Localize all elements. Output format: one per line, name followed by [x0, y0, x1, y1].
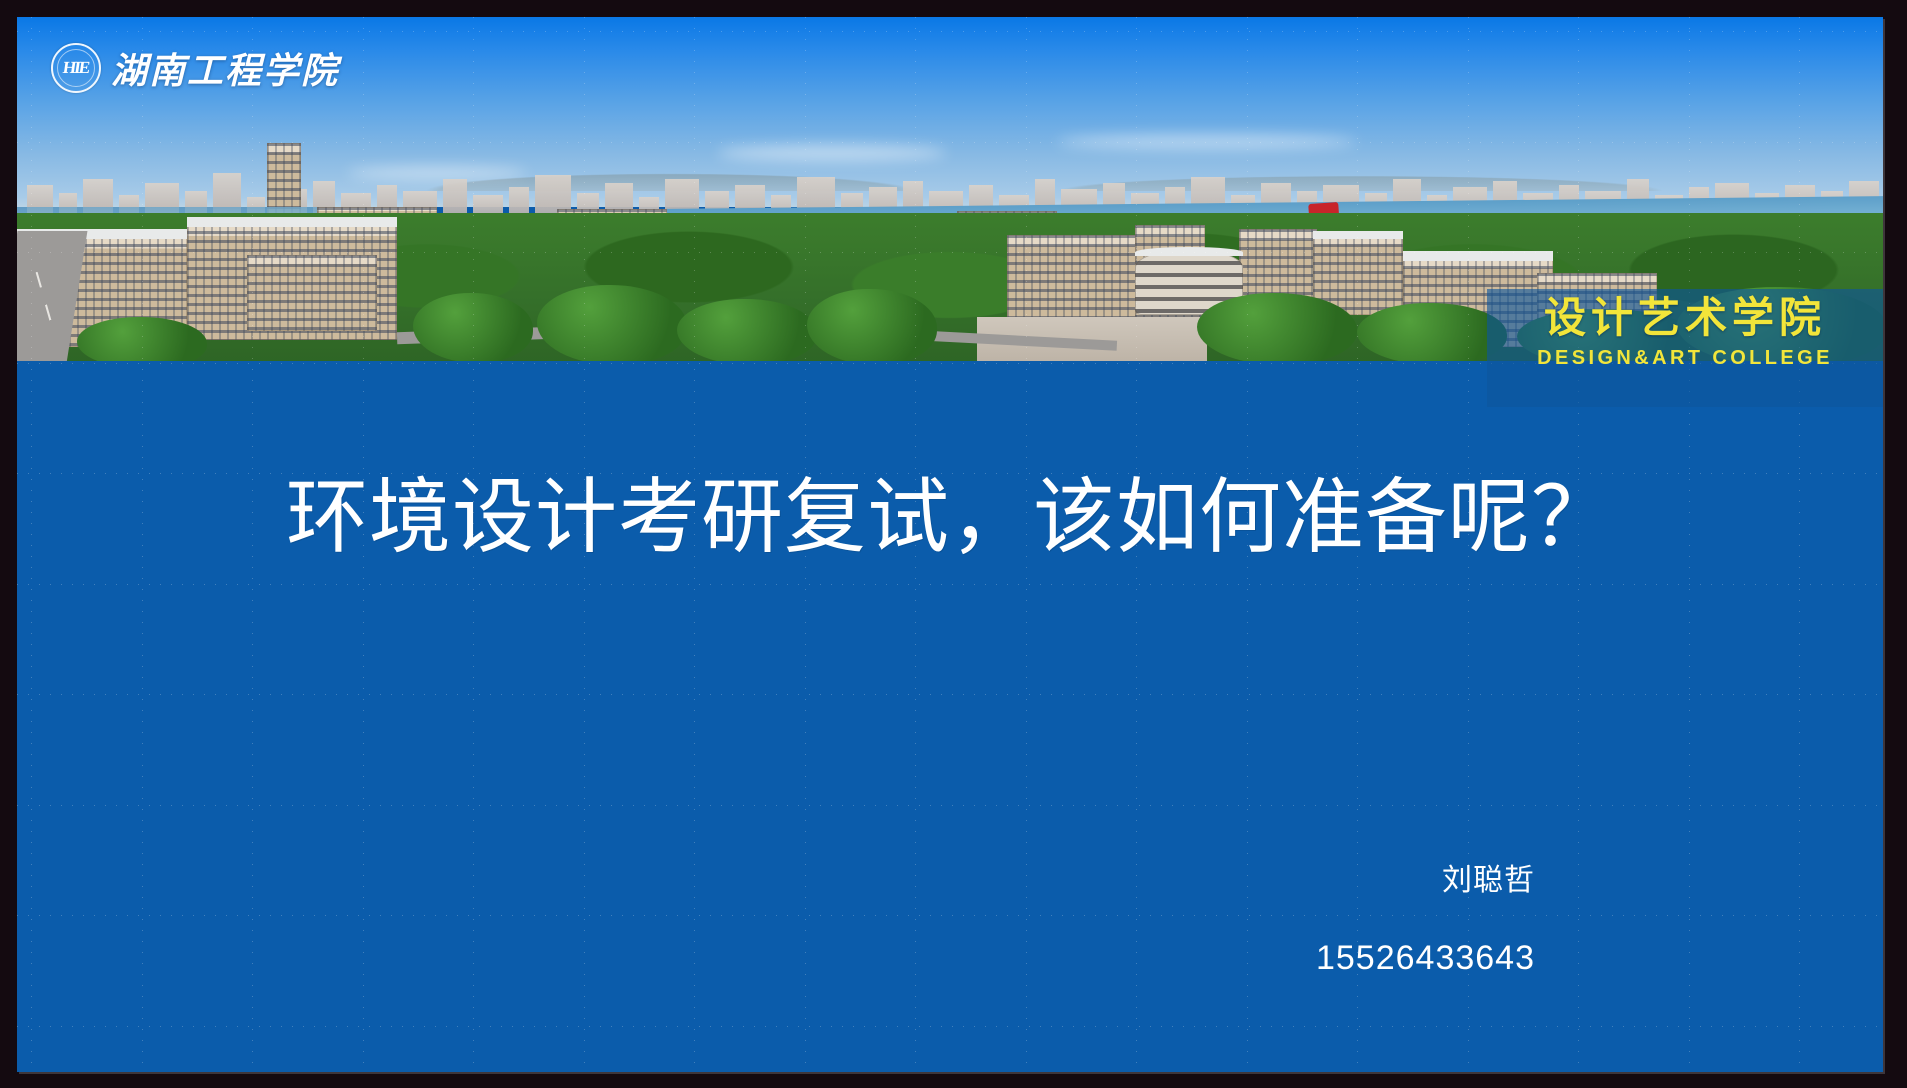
university-emblem-icon: HIE [51, 43, 101, 93]
college-badge: 设计艺术学院 DESIGN&ART COLLEGE [1487, 289, 1883, 407]
slide-title: 环境设计考研复试，该如何准备呢？ [17, 472, 1883, 564]
grid-line-horizontal [17, 584, 1883, 585]
tree-clump [807, 289, 937, 361]
campus-building-right [1007, 235, 1137, 321]
presenter-name: 刘聪哲 [17, 855, 1535, 899]
tree-clump [1197, 293, 1357, 361]
presentation-slide[interactable]: HIE 湖南工程学院 设计艺术学院 DESIGN&ART COLLEGE 环境设… [17, 17, 1883, 1072]
tree-clump [537, 285, 687, 361]
university-wordmark: 湖南工程学院 [111, 42, 339, 94]
building-roof [1313, 231, 1403, 239]
grid-line-horizontal [17, 805, 1883, 806]
campus-building-left [247, 255, 377, 331]
grid-line-horizontal [17, 1026, 1883, 1027]
tree-clump [413, 293, 533, 361]
grid-line-horizontal [17, 915, 1883, 916]
building-roof [187, 217, 397, 227]
college-name-chinese: 设计艺术学院 [1544, 295, 1826, 341]
grid-line-horizontal [17, 694, 1883, 695]
building-roof [1403, 251, 1553, 261]
presenter-phone: 15526433643 [17, 939, 1535, 978]
screen: HIE 湖南工程学院 设计艺术学院 DESIGN&ART COLLEGE 环境设… [0, 0, 1907, 1088]
university-logo: HIE 湖南工程学院 [51, 42, 339, 94]
tree-clump [677, 299, 817, 361]
emblem-letters: HIE [62, 58, 90, 78]
cloud-icon [1057, 135, 1357, 149]
tree-clump [1357, 303, 1507, 361]
round-building-roof [1135, 247, 1243, 256]
college-name-english: DESIGN&ART COLLEGE [1537, 347, 1833, 370]
